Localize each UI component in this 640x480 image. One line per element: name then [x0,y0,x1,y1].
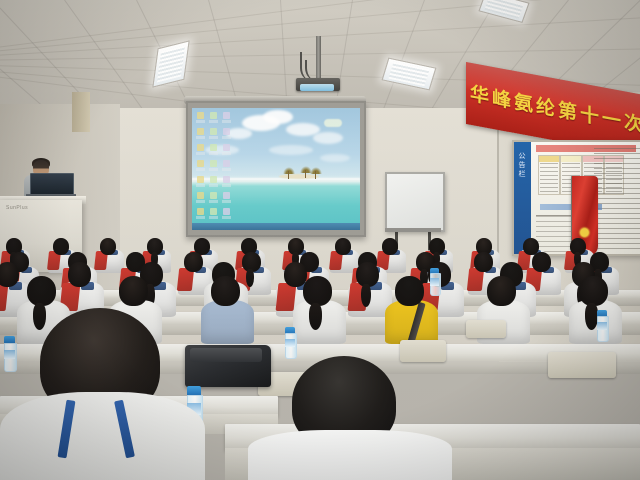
person-head [579,276,608,306]
person-head [303,276,332,306]
photo-scene: 华峰氨纶第十一次 公告栏 [0,0,640,480]
chair [400,340,446,362]
person-head [68,262,91,287]
person-ponytail [361,284,371,307]
person-head [474,252,493,272]
person-head [27,276,56,306]
person-head [395,276,424,306]
person-head [53,238,69,255]
person-head [0,262,19,287]
water-bottle-icon [597,310,607,340]
person-head [382,238,398,255]
water-bottle-icon [430,268,439,294]
person-head [532,252,551,272]
person-ponytail [585,303,598,330]
chair [466,320,506,338]
uniform-sash [276,283,297,311]
chair [548,352,616,378]
person-head [184,252,203,272]
person-head [335,238,351,255]
person-torso [0,392,205,480]
person-torso [248,430,452,480]
person-ponytail [309,303,322,330]
water-bottle-icon [285,327,295,357]
person-ponytail [33,303,46,330]
person-head [100,238,116,255]
person-head [487,276,516,306]
person-torso [201,300,254,344]
person-head [119,276,148,306]
bag-flap [190,348,262,362]
person-head [211,276,240,306]
water-bottle-icon [4,336,15,370]
